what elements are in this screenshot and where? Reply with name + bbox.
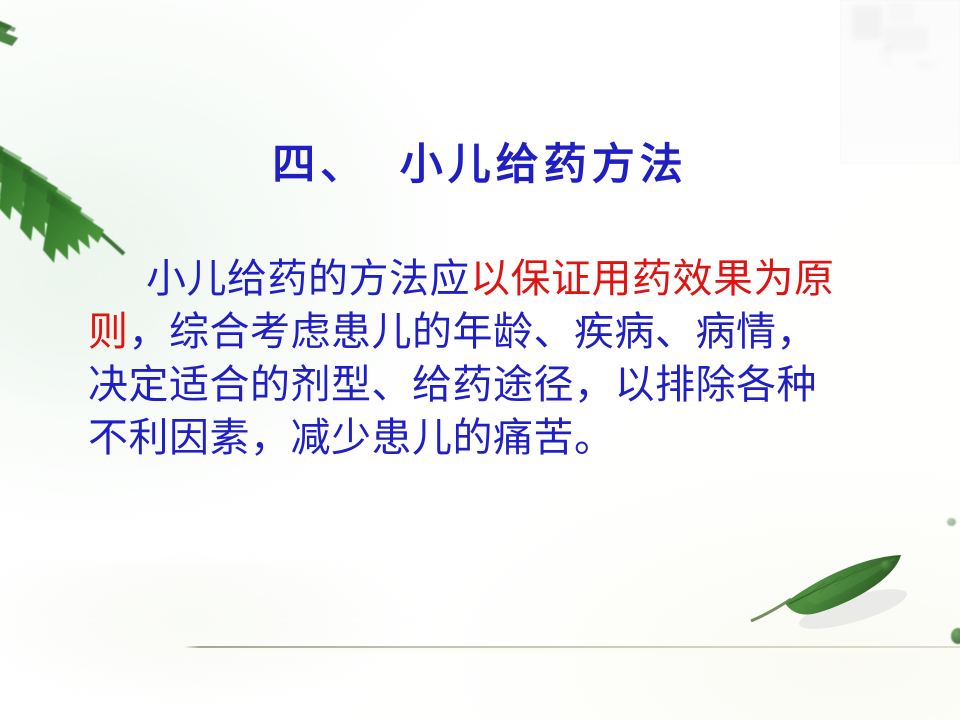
- body-line-1-highlight: 以保证用药效果为原: [470, 256, 835, 301]
- horizontal-divider: [184, 646, 960, 648]
- divider-glow: [184, 648, 960, 656]
- panel-smudge: [888, 2, 914, 24]
- leaf-icon: [745, 543, 925, 653]
- body-line-4: 不利因素，减少患儿的痛苦。: [88, 411, 888, 464]
- body-line-3: 决定适合的剂型、给药途径，以排除各种: [88, 358, 888, 411]
- body-line-2-plain: ，综合考虑患儿的年龄、疾病、病情，: [129, 309, 818, 354]
- body-line-3-text: 决定适合的剂型、给药途径，以排除各种: [88, 362, 817, 407]
- slide-body-text: 小儿给药的方法应以保证用药效果为原 则，综合考虑患儿的年龄、疾病、病情， 决定适…: [88, 252, 888, 464]
- background-haze-bottom: [0, 560, 420, 710]
- leaf-bud-decoration: [880, 560, 893, 572]
- panel-smudge: [880, 46, 892, 66]
- body-line-2: 则，综合考虑患儿的年龄、疾病、病情，: [88, 305, 888, 358]
- panel-smudge: [918, 60, 936, 70]
- leaf-bud-decoration: [951, 628, 960, 644]
- leaf-bud-decoration: [947, 518, 956, 526]
- body-line-1: 小儿给药的方法应以保证用药效果为原: [88, 252, 888, 305]
- slide-canvas: 四、 小儿给药方法 小儿给药的方法应以保证用药效果为原 则，综合考虑患儿的年龄、…: [0, 0, 960, 720]
- body-line-4-text: 不利因素，减少患儿的痛苦。: [88, 415, 615, 460]
- slide-title: 四、 小儿给药方法: [0, 140, 960, 192]
- panel-smudge: [852, 6, 882, 40]
- body-line-1-plain: 小儿给药的方法应: [146, 256, 470, 301]
- body-line-2-highlight: 则: [88, 309, 129, 354]
